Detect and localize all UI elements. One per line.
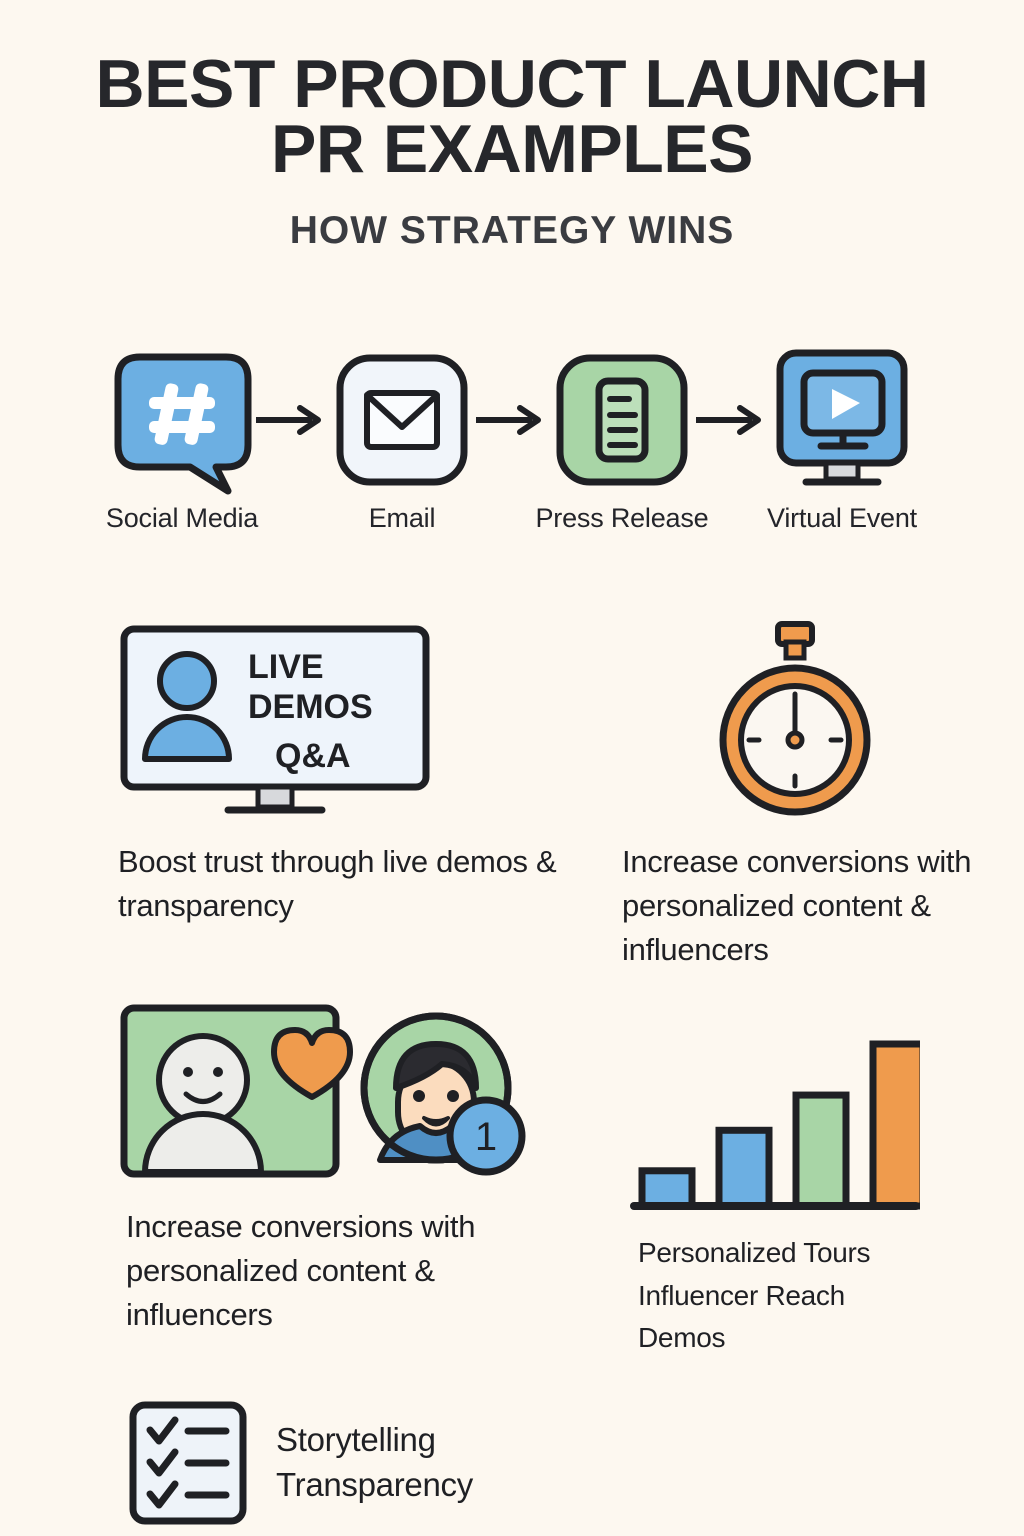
chart-bar bbox=[873, 1044, 920, 1206]
header: BEST PRODUCT LAUNCH PR EXAMPLES HOW STRA… bbox=[0, 0, 1024, 253]
live-demos-illustration: LIVE DEMOS Q&A bbox=[120, 625, 550, 820]
flow-item-email: Email bbox=[302, 345, 502, 534]
chart-label-1: Influencer Reach bbox=[638, 1275, 978, 1318]
flow-label-press-release: Press Release bbox=[522, 503, 722, 534]
monitor-play-icon bbox=[742, 345, 942, 495]
bar-chart-svg bbox=[630, 1030, 920, 1215]
page-subtitle: HOW STRATEGY WINS bbox=[0, 209, 1024, 253]
flow-item-virtual-event: Virtual Event bbox=[742, 345, 942, 534]
flow-item-press-release: Press Release bbox=[522, 345, 722, 534]
svg-text:DEMOS: DEMOS bbox=[248, 688, 373, 726]
stopwatch-illustration bbox=[700, 620, 890, 825]
stopwatch-icon bbox=[700, 620, 890, 820]
page-title: BEST PRODUCT LAUNCH PR EXAMPLES bbox=[62, 52, 962, 183]
live-demos-caption: Boost trust through live demos & transpa… bbox=[118, 840, 588, 928]
infographic-page: BEST PRODUCT LAUNCH PR EXAMPLES HOW STRA… bbox=[0, 0, 1024, 1536]
svg-text:Q&A: Q&A bbox=[275, 737, 351, 775]
checklist-caption: Storytelling Transparency bbox=[276, 1418, 473, 1507]
chart-bar bbox=[719, 1130, 769, 1206]
bar-chart-labels: Personalized Tours Influencer Reach Demo… bbox=[638, 1232, 978, 1360]
avatar-badge-count: 1 bbox=[475, 1115, 497, 1159]
svg-text:LIVE: LIVE bbox=[248, 648, 324, 686]
bar-chart bbox=[630, 1030, 920, 1220]
hashtag-speech-bubble-icon bbox=[82, 345, 282, 495]
checklist-block: Storytelling Transparency bbox=[128, 1400, 548, 1526]
chart-bar bbox=[642, 1171, 692, 1206]
social-proof-caption: Increase conversions with personalized c… bbox=[126, 1205, 546, 1337]
smiley-card-heart-icon bbox=[124, 1008, 350, 1174]
pr-channel-flow: Social Media Email bbox=[0, 345, 1024, 534]
chart-label-0: Personalized Tours bbox=[638, 1232, 978, 1275]
stopwatch-caption: Increase conversions with personalized c… bbox=[622, 840, 1012, 972]
monitor-live-demo-icon: LIVE DEMOS Q&A bbox=[120, 625, 430, 815]
checklist-line-1: Storytelling bbox=[276, 1418, 473, 1463]
envelope-icon bbox=[302, 345, 502, 495]
checklist-icon bbox=[128, 1400, 248, 1526]
title-line-2: PR EXAMPLES bbox=[62, 117, 962, 182]
flow-label-virtual-event: Virtual Event bbox=[742, 503, 942, 534]
avatar-with-badge-icon: 1 bbox=[364, 1016, 522, 1172]
flow-item-social-media: Social Media bbox=[82, 345, 282, 534]
flow-label-social-media: Social Media bbox=[82, 503, 282, 534]
social-proof-illustration: 1 bbox=[120, 1000, 530, 1190]
flow-label-email: Email bbox=[302, 503, 502, 534]
chart-label-2: Demos bbox=[638, 1317, 978, 1360]
checklist-line-2: Transparency bbox=[276, 1463, 473, 1508]
chart-bar bbox=[796, 1095, 846, 1206]
document-icon bbox=[522, 345, 722, 495]
